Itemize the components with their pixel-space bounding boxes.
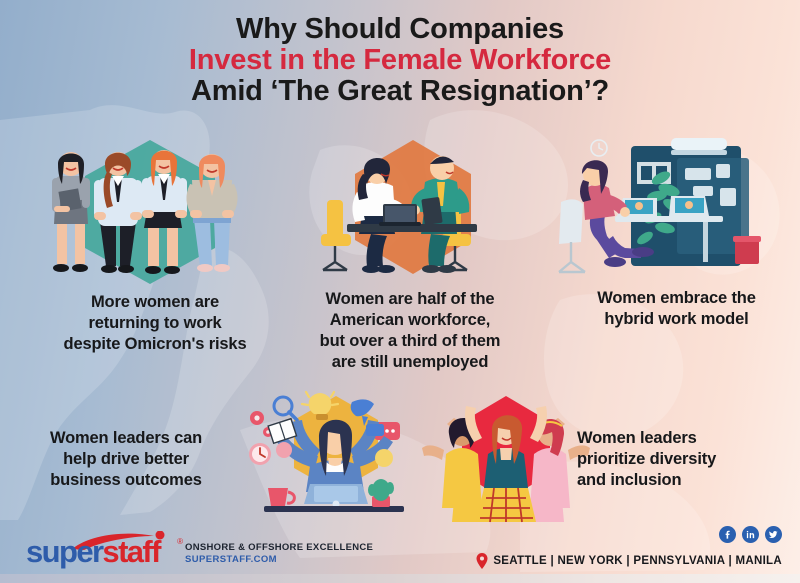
caption-hybrid-work-model: Women embrace the hybrid work model <box>553 288 800 330</box>
caption-half-of-workforce: Women are half of the American workforce… <box>285 289 535 373</box>
logo-mark: superstaff ® <box>26 535 176 569</box>
location-pin-icon <box>476 553 488 569</box>
linkedin-icon[interactable] <box>742 526 759 543</box>
illustration-four-businesswomen-standing <box>30 128 280 286</box>
caption-diversity-and-inclusion: Women leaders prioritize diversity and i… <box>577 428 792 491</box>
twitter-icon[interactable] <box>765 526 782 543</box>
registered-mark: ® <box>177 537 183 546</box>
point-card-half-of-workforce: Women are half of the American workforce… <box>285 130 535 373</box>
caption-drive-business-outcomes: Women leaders can help drive better busi… <box>6 428 246 491</box>
footer-bottom-strip <box>0 574 800 583</box>
title-line-3: Amid ‘The Great Resignation’? <box>0 76 800 107</box>
brand-logo[interactable]: superstaff ® ONSHORE & OFFSHORE EXCELLEN… <box>26 535 373 569</box>
title-line-1: Why Should Companies <box>0 14 800 45</box>
logo-text-staff: staff <box>102 534 159 569</box>
social-links[interactable] <box>719 526 782 543</box>
caption-returning-to-work: More women are returning to work despite… <box>30 292 280 355</box>
infographic-canvas: Why Should Companies Invest in the Femal… <box>0 0 800 583</box>
locations-text: SEATTLE | NEW YORK | PENNSYLVANIA | MANI… <box>493 555 782 567</box>
tagline-website[interactable]: SUPERSTAFF.COM <box>185 554 373 566</box>
illustration-three-women-arms-raised <box>420 392 592 529</box>
title-line-2-accent: Invest in the Female Workforce <box>0 45 800 76</box>
point-card-returning-to-work: More women are returning to work despite… <box>30 128 280 355</box>
point-card-hybrid-work-model: Women embrace the hybrid work model <box>553 130 800 330</box>
illustration-multitasking-woman-many-arms <box>248 388 423 525</box>
illustration-woman-remote-workstation-with-plants <box>553 130 800 280</box>
logo-text-super: super <box>26 534 102 569</box>
office-locations: SEATTLE | NEW YORK | PENNSYLVANIA | MANI… <box>476 553 782 569</box>
facebook-icon[interactable] <box>719 526 736 543</box>
page-title: Why Should Companies Invest in the Femal… <box>0 14 800 107</box>
tagline-line-1: ONSHORE & OFFSHORE EXCELLENCE <box>185 542 373 554</box>
brand-tagline: ONSHORE & OFFSHORE EXCELLENCE SUPERSTAFF… <box>185 542 373 569</box>
illustration-two-colleagues-at-desk-with-laptop <box>285 130 535 285</box>
